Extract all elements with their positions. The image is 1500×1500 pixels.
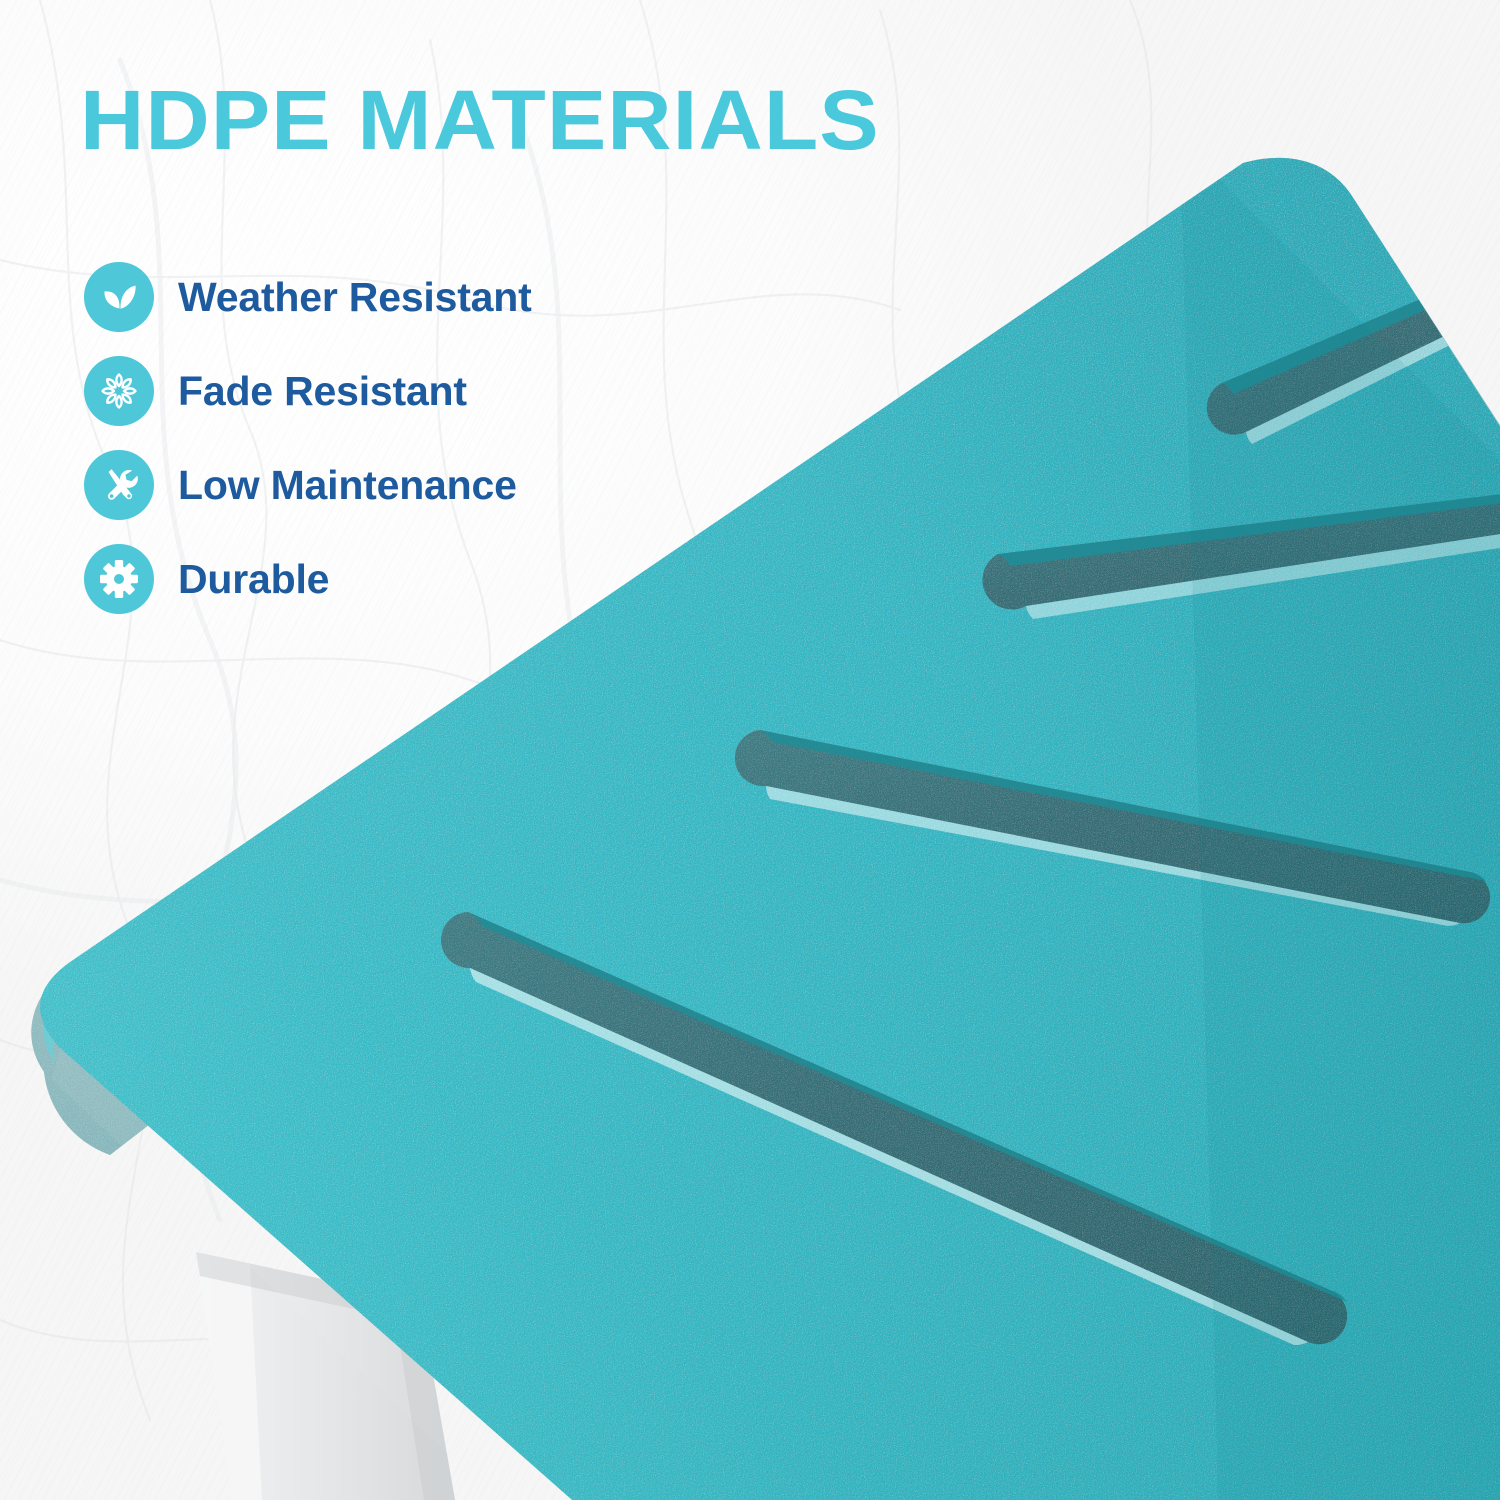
feature-item-weather-resistant: Weather Resistant: [84, 262, 724, 332]
background-grain: [0, 0, 1500, 1500]
infographic-canvas: HDPE MATERIALS Weather Resistant: [0, 0, 1500, 1500]
feature-item-fade-resistant: Fade Resistant: [84, 356, 724, 426]
feature-label: Weather Resistant: [178, 274, 532, 321]
feature-list: Weather Resistant: [84, 262, 724, 614]
feature-label: Durable: [178, 556, 329, 603]
gear-icon: [84, 544, 154, 614]
page-title: HDPE MATERIALS: [80, 78, 880, 162]
wrench-screwdriver-icon: [84, 450, 154, 520]
feature-item-low-maintenance: Low Maintenance: [84, 450, 724, 520]
flower-icon: [84, 356, 154, 426]
leaves-icon: [84, 262, 154, 332]
feature-label: Low Maintenance: [178, 462, 517, 509]
feature-label: Fade Resistant: [178, 368, 467, 415]
feature-item-durable: Durable: [84, 544, 724, 614]
